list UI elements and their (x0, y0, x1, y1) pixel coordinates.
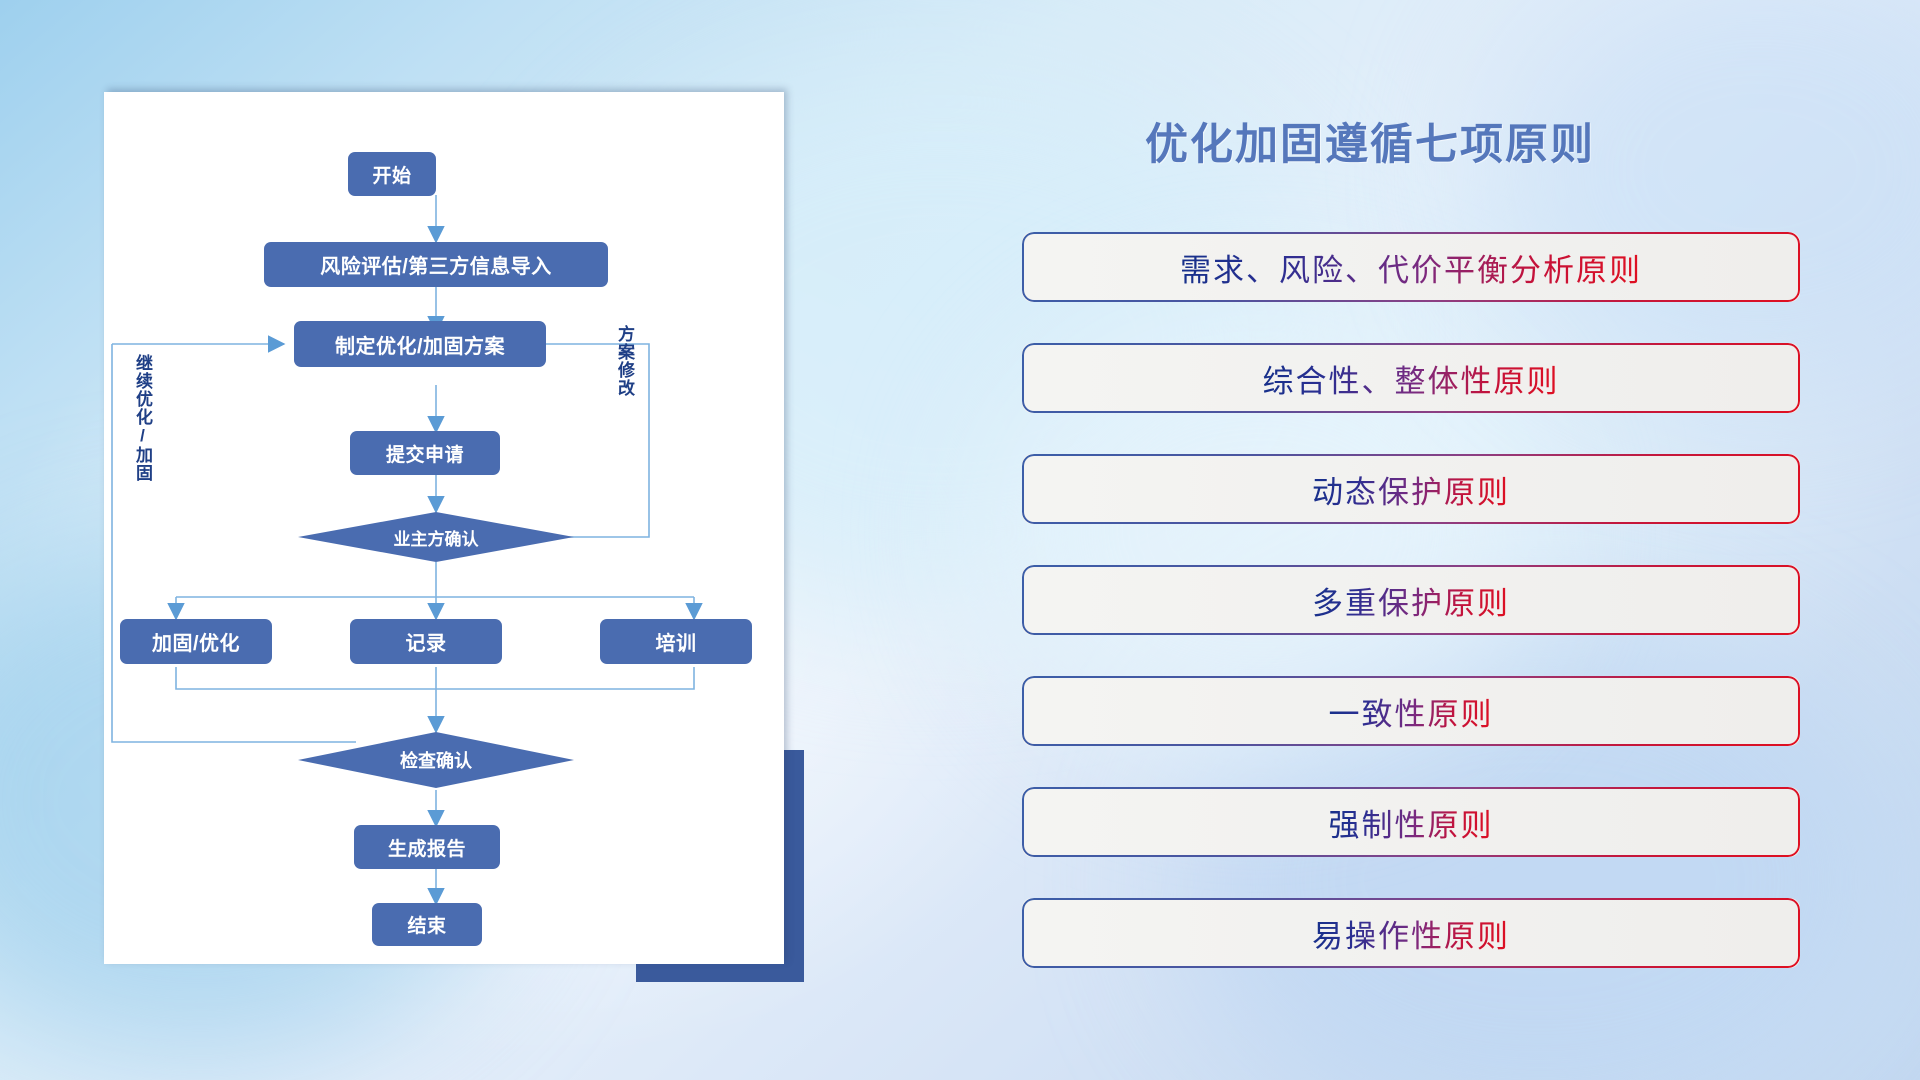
flow-node-record[interactable]: 记录 (350, 619, 502, 664)
flow-node-report-label: 生成报告 (388, 834, 466, 861)
principle-item-label: 综合性、整体性原则 (1263, 356, 1560, 401)
flow-node-reinforce[interactable]: 加固/优化 (120, 619, 272, 664)
flow-node-report[interactable]: 生成报告 (354, 825, 500, 869)
principle-item[interactable]: 易操作性原则 (1022, 898, 1800, 968)
principle-item-label: 易操作性原则 (1312, 911, 1510, 956)
principles-list: 需求、风险、代价平衡分析原则 综合性、整体性原则 动态保护原则 多重保护原则 一… (1022, 232, 1800, 1009)
flow-node-submit-label: 提交申请 (386, 440, 464, 467)
flow-node-plan-label: 制定优化/加固方案 (335, 330, 505, 359)
flow-node-plan[interactable]: 制定优化/加固方案 (294, 321, 546, 367)
flow-edge-label-plan-revision: 方案修改 (612, 325, 637, 397)
flow-node-training[interactable]: 培训 (600, 619, 752, 664)
flow-node-risk-assessment-label: 风险评估/第三方信息导入 (320, 250, 552, 279)
flow-node-end[interactable]: 结束 (372, 903, 482, 946)
principle-item-label: 多重保护原则 (1312, 578, 1510, 623)
flowchart-card: 开始 风险评估/第三方信息导入 制定优化/加固方案 提交申请 业主方确认 加固/… (104, 92, 784, 964)
flow-node-reinforce-label: 加固/优化 (152, 627, 240, 656)
flow-node-start-label: 开始 (372, 161, 411, 188)
decision-check-confirm (298, 732, 574, 788)
flow-node-submit[interactable]: 提交申请 (350, 431, 500, 475)
flow-node-training-label: 培训 (656, 627, 697, 656)
flow-node-end-label: 结束 (407, 911, 446, 938)
principle-item-label: 一致性原则 (1329, 689, 1494, 734)
principle-item[interactable]: 强制性原则 (1022, 787, 1800, 857)
decision-owner-confirm (298, 512, 574, 562)
principle-item[interactable]: 动态保护原则 (1022, 454, 1800, 524)
principle-item-label: 动态保护原则 (1312, 467, 1510, 512)
flow-node-start[interactable]: 开始 (348, 152, 436, 196)
flow-edge-label-continue-optimize: 继续优化/加固 (130, 354, 155, 482)
principle-item[interactable]: 一致性原则 (1022, 676, 1800, 746)
principle-item[interactable]: 多重保护原则 (1022, 565, 1800, 635)
principle-item-label: 需求、风险、代价平衡分析原则 (1180, 245, 1642, 290)
principle-item[interactable]: 需求、风险、代价平衡分析原则 (1022, 232, 1800, 302)
flow-node-risk-assessment[interactable]: 风险评估/第三方信息导入 (264, 242, 608, 287)
principle-item-label: 强制性原则 (1329, 800, 1494, 845)
slide-root: 开始 风险评估/第三方信息导入 制定优化/加固方案 提交申请 业主方确认 加固/… (0, 0, 1920, 1080)
principles-title: 优化加固遵循七项原则 (1020, 110, 1720, 172)
flow-node-record-label: 记录 (406, 627, 447, 656)
principle-item[interactable]: 综合性、整体性原则 (1022, 343, 1800, 413)
